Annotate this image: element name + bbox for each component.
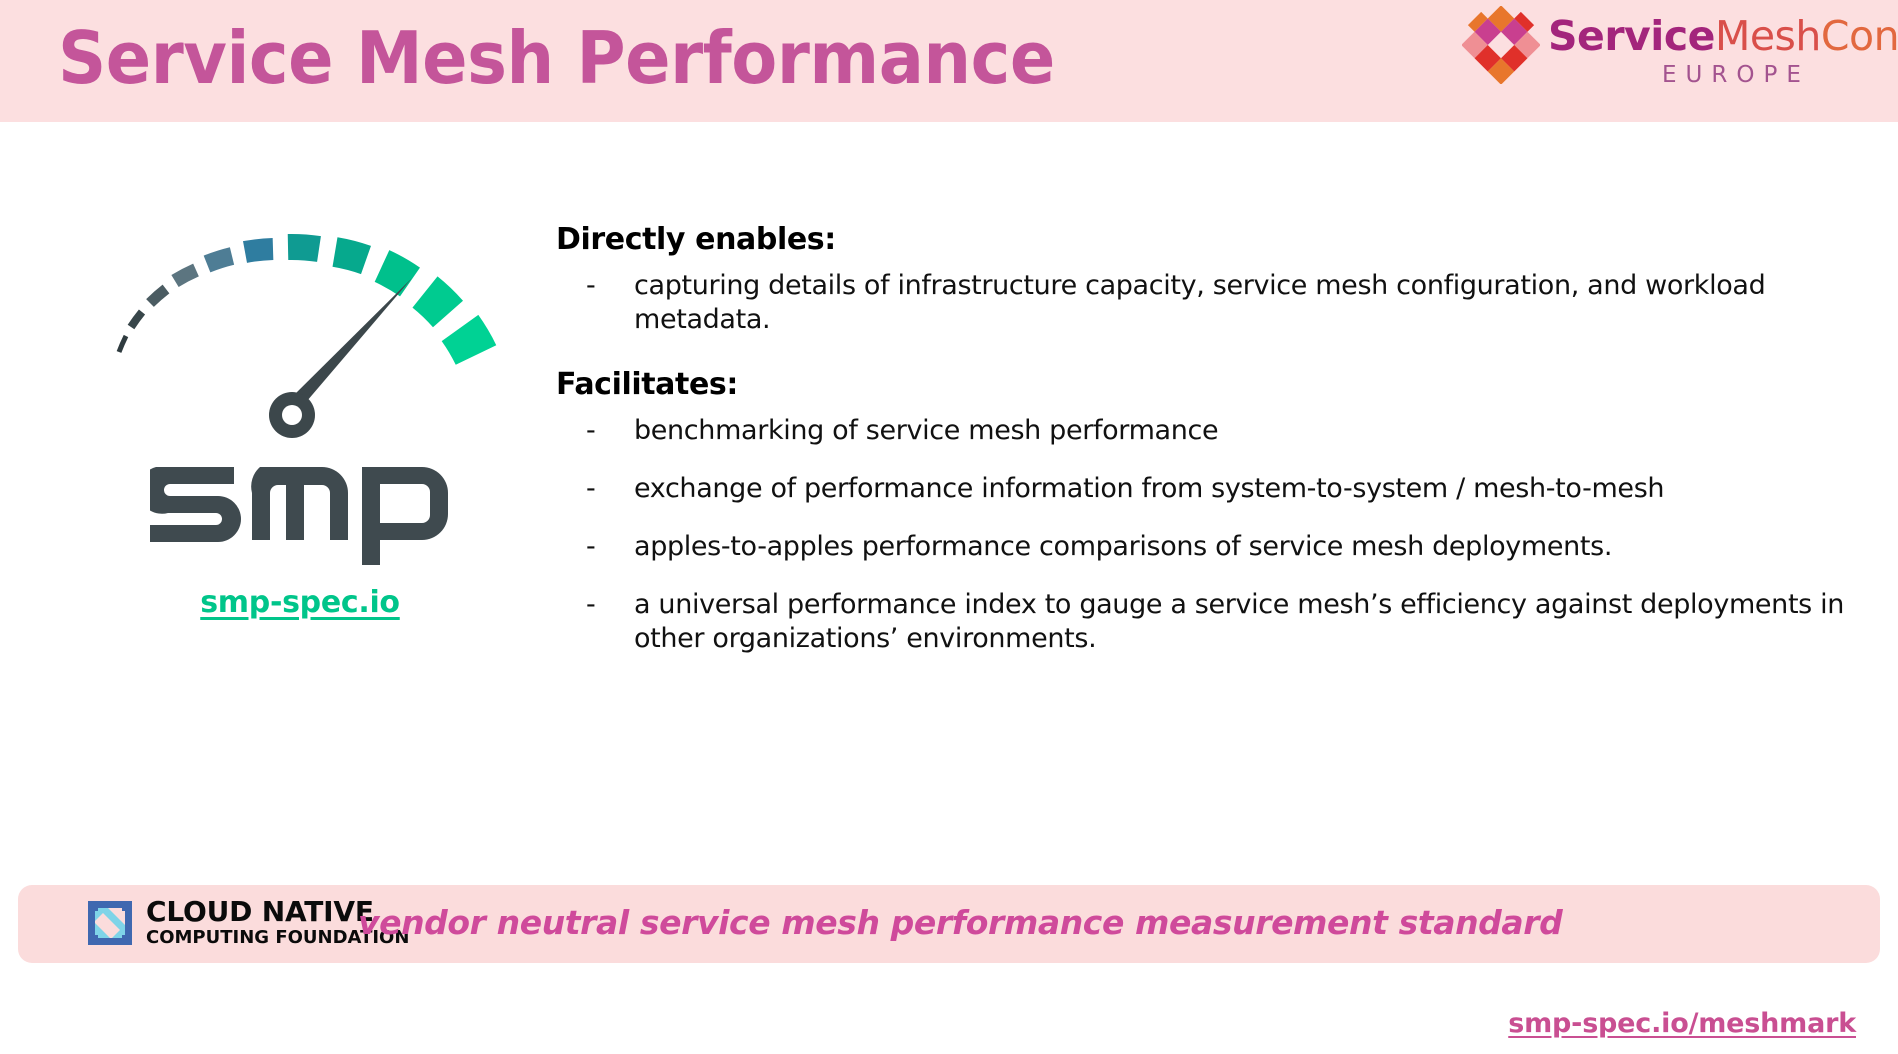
bullet-marker: -: [556, 530, 634, 564]
gauge-segments: [119, 247, 476, 355]
smp-spec-link[interactable]: smp-spec.io: [60, 585, 540, 620]
servicemeshcon-mark-icon: [1462, 6, 1540, 84]
section-heading-facilitates: Facilitates:: [556, 367, 1866, 402]
servicemeshcon-logo: ServiceMeshCon EUROPE: [1462, 4, 1892, 112]
list-item: - a universal performance index to gauge…: [556, 588, 1866, 656]
bullet-list-facilitates: - benchmarking of service mesh performan…: [556, 414, 1866, 656]
list-item: - benchmarking of service mesh performan…: [556, 414, 1866, 448]
meshmark-link[interactable]: smp-spec.io/meshmark: [1508, 1008, 1856, 1039]
footer-banner: CLOUD NATIVE COMPUTING FOUNDATION vendor…: [18, 885, 1880, 963]
bullet-text: apples-to-apples performance comparisons…: [634, 530, 1866, 564]
bullet-text: benchmarking of service mesh performance: [634, 414, 1866, 448]
bullet-list-directly-enables: - capturing details of infrastructure ca…: [556, 269, 1866, 337]
servicemeshcon-wordmark: ServiceMeshCon: [1548, 12, 1898, 60]
section-heading-directly-enables: Directly enables:: [556, 222, 1866, 257]
logo-word-con: Con: [1821, 12, 1898, 60]
speedometer-gauge: [80, 200, 540, 460]
bullet-marker: -: [556, 588, 634, 622]
footer-tagline: vendor neutral service mesh performance …: [358, 903, 1562, 942]
logo-word-service: Service: [1548, 12, 1715, 60]
bullet-marker: -: [556, 414, 634, 448]
smp-logo-icon: [150, 455, 450, 565]
list-item: - apples-to-apples performance compariso…: [556, 530, 1866, 564]
bullet-text: capturing details of infrastructure capa…: [634, 269, 1866, 337]
cncf-mark-icon: [86, 899, 134, 947]
list-item: - exchange of performance information fr…: [556, 472, 1866, 506]
left-column: smp-spec.io: [60, 180, 560, 660]
bullet-marker: -: [556, 472, 634, 506]
bullet-text: a universal performance index to gauge a…: [634, 588, 1866, 656]
logo-subtitle-europe: EUROPE: [1662, 62, 1810, 88]
smp-wordmark: [90, 455, 510, 570]
gauge-needle: [269, 278, 412, 438]
list-item: - capturing details of infrastructure ca…: [556, 269, 1866, 337]
bullet-text: exchange of performance information from…: [634, 472, 1866, 506]
page-title: Service Mesh Performance: [58, 6, 1055, 111]
logo-word-mesh: Mesh: [1715, 12, 1821, 60]
content-column: Directly enables: - capturing details of…: [556, 222, 1866, 680]
bullet-marker: -: [556, 269, 634, 303]
